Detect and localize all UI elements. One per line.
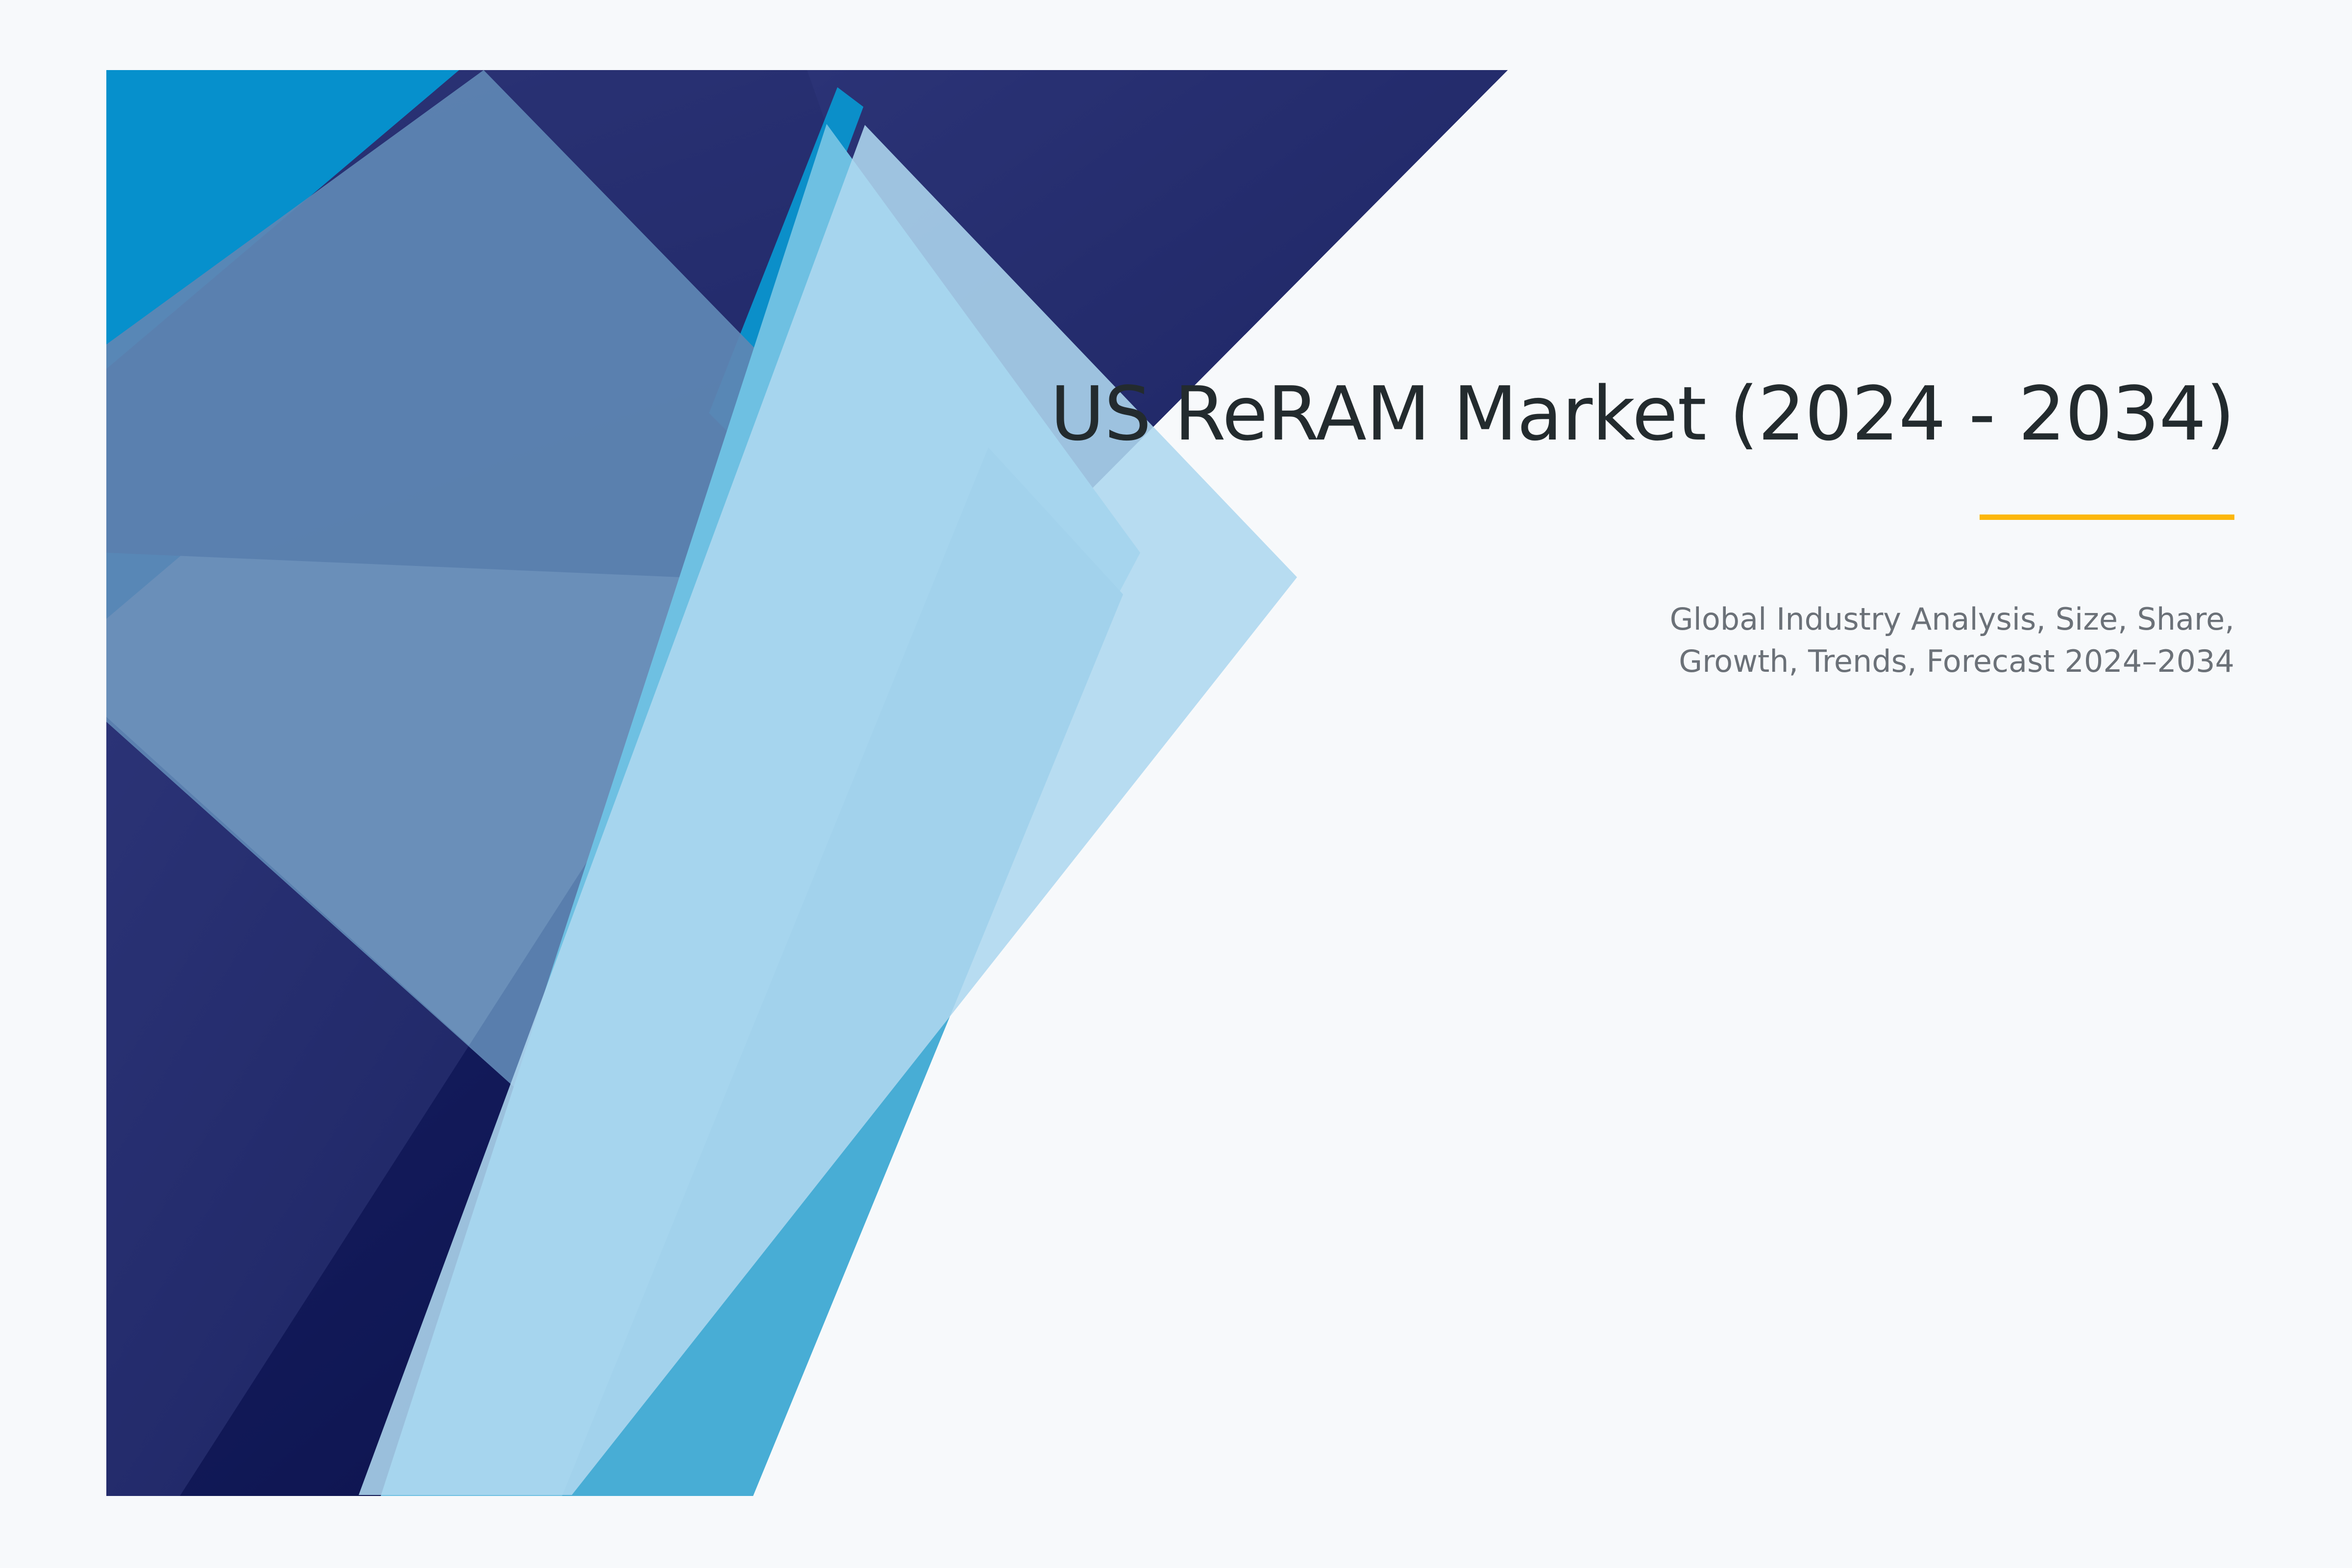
cover-text-block: US ReRAM Market (2024 - 2034) Global Ind… [911, 372, 2234, 682]
page-title: US ReRAM Market (2024 - 2034) [911, 372, 2234, 456]
accent-underline-rule [1980, 514, 2234, 520]
abstract-geometric-banner [106, 70, 1508, 1496]
page-subtitle: Global Industry Analysis, Size, Share, G… [1602, 598, 2234, 682]
report-cover-slide: US ReRAM Market (2024 - 2034) Global Ind… [0, 0, 2352, 1568]
